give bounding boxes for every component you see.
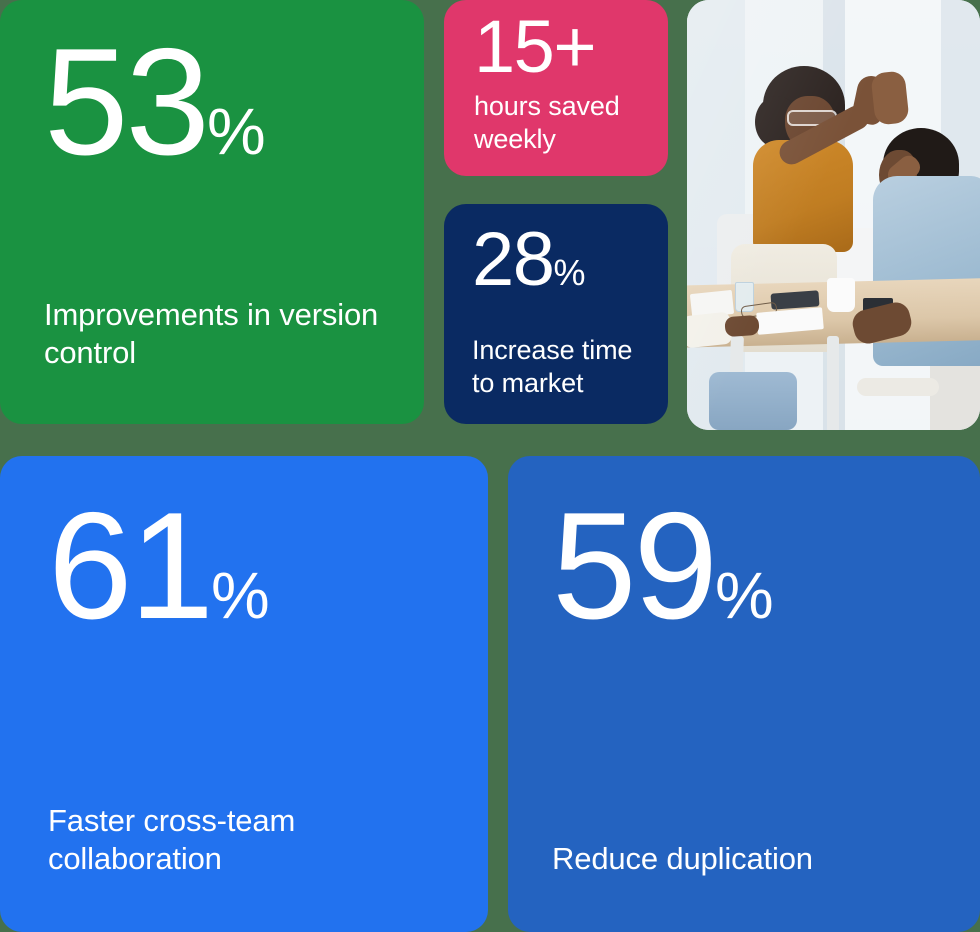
stat-card-version-control: 53% Improvements in version control: [0, 0, 424, 424]
stat-number: 28: [472, 217, 554, 302]
stat-value-duplication: 59%: [552, 494, 936, 638]
stat-suffix: %: [715, 558, 771, 632]
stat-suffix: %: [554, 252, 585, 293]
high-five-hand: [870, 70, 909, 125]
tablet: [771, 290, 820, 309]
team-highfive-photo: [687, 0, 980, 430]
photo-illustration: [687, 0, 980, 430]
jeans: [709, 372, 797, 430]
stat-label-time-to-market: Increase time to market: [472, 334, 650, 400]
stat-card-time-to-market: 28% Increase time to market: [444, 204, 668, 424]
stat-label-hours-saved: hours saved weekly: [474, 90, 648, 156]
stat-suffix: %: [207, 94, 263, 168]
coffee-cup: [827, 278, 855, 312]
stat-value-hours-saved: 15+: [474, 12, 648, 82]
stat-number: 15: [474, 5, 553, 88]
third-person-hand: [724, 315, 759, 337]
stat-card-duplication: 59% Reduce duplication: [508, 456, 980, 932]
stat-number: 53: [44, 17, 207, 187]
stat-number: 59: [552, 481, 715, 651]
stat-label-collaboration: Faster cross-team collaboration: [48, 802, 444, 878]
stat-suffix: %: [211, 558, 267, 632]
stat-value-collaboration: 61%: [48, 494, 444, 638]
stat-card-hours-saved: 15+ hours saved weekly: [444, 0, 668, 176]
desk-leg: [827, 336, 839, 430]
stat-label-duplication: Reduce duplication: [552, 840, 936, 878]
stat-value-time-to-market: 28%: [472, 224, 650, 296]
stat-label-version-control: Improvements in version control: [44, 296, 380, 372]
stat-card-collaboration: 61% Faster cross-team collaboration: [0, 456, 488, 932]
stat-number: 61: [48, 481, 211, 651]
stats-card-grid: 53% Improvements in version control 15+ …: [0, 0, 980, 932]
chair-armrest: [857, 378, 939, 396]
stat-suffix: +: [553, 5, 595, 88]
stat-value-version-control: 53%: [44, 30, 380, 174]
